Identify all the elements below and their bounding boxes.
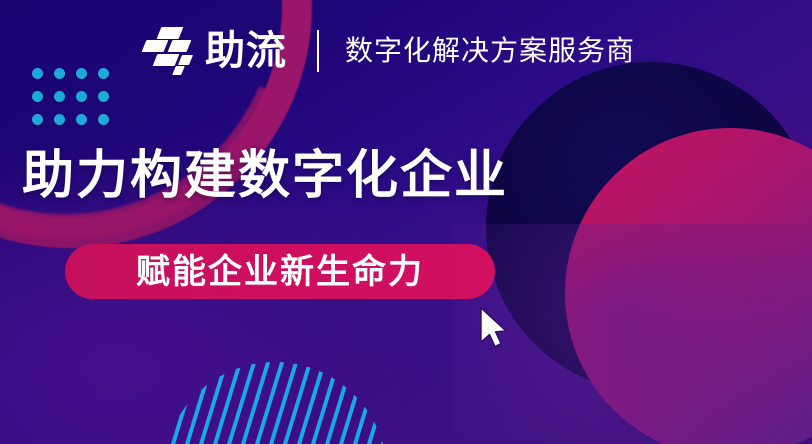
hero-badge: 赋能企业新生命力 [65,244,495,299]
cyan-dot [98,68,109,79]
cyan-dot [98,114,109,125]
cyan-dot [98,91,109,102]
cyan-dot [76,114,87,125]
hero-headline: 助力构建数字化企业 [22,147,508,205]
brand-tagline: 数字化解决方案服务商 [345,37,635,65]
cyan-dot [76,68,87,79]
zhuliu-flash-logo-icon [143,25,197,77]
bottom-right-purple-sheen [452,224,812,444]
cyan-dot-grid [32,68,120,137]
cyan-dot [54,68,65,79]
cyan-dot [32,68,43,79]
cyan-dot [32,114,43,125]
cyan-dot [54,114,65,125]
cyan-dot [32,91,43,102]
logo-wordmark: 助流 [205,31,287,71]
brand-header: 助流 数字化解决方案服务商 [143,22,635,80]
cyan-dot [54,91,65,102]
promo-banner: 助流 数字化解决方案服务商 助力构建数字化企业 赋能企业新生命力 [0,0,812,444]
cyan-dot [76,91,87,102]
hero-badge-label: 赋能企业新生命力 [136,255,424,289]
header-divider [317,30,319,72]
